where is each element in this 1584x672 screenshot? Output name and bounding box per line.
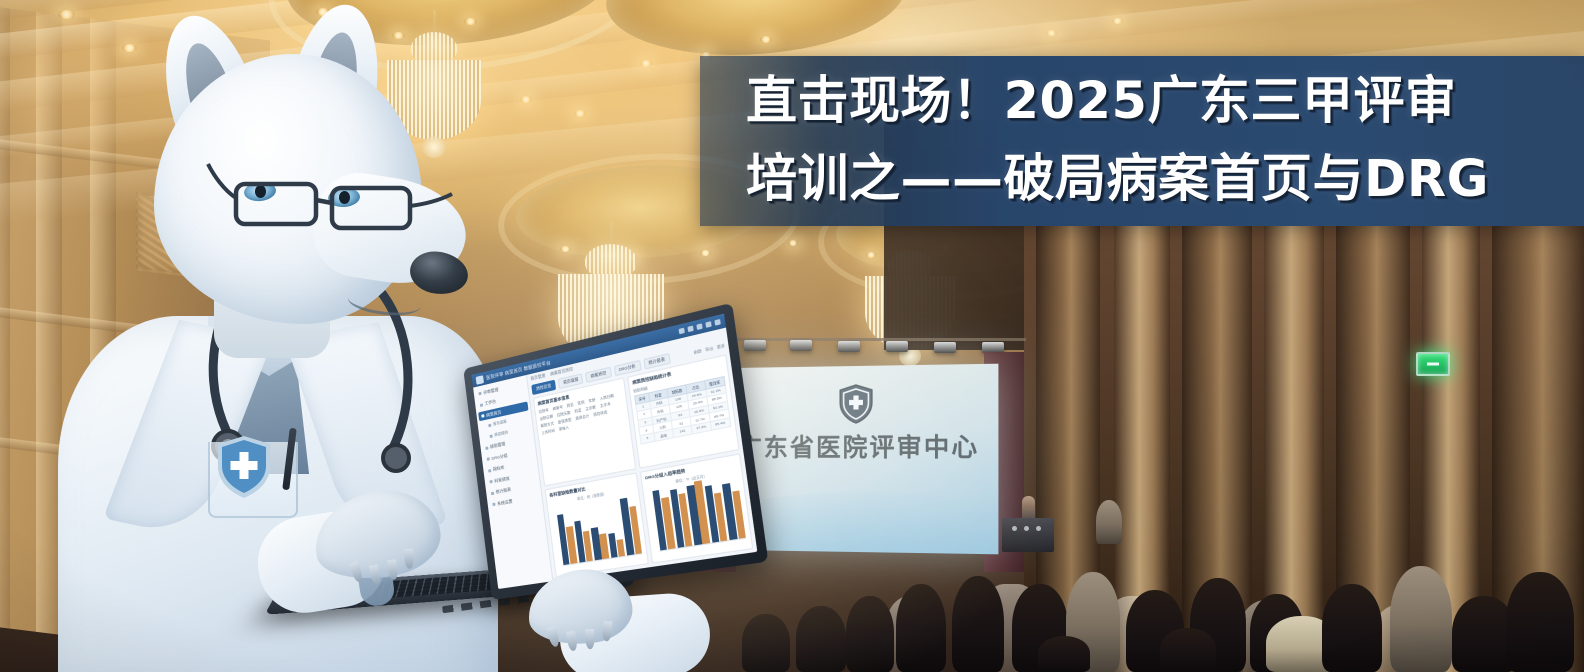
poster-canvas: 广东省医院评审中心 — [0, 0, 1584, 672]
vignette-overlay — [0, 0, 1584, 672]
